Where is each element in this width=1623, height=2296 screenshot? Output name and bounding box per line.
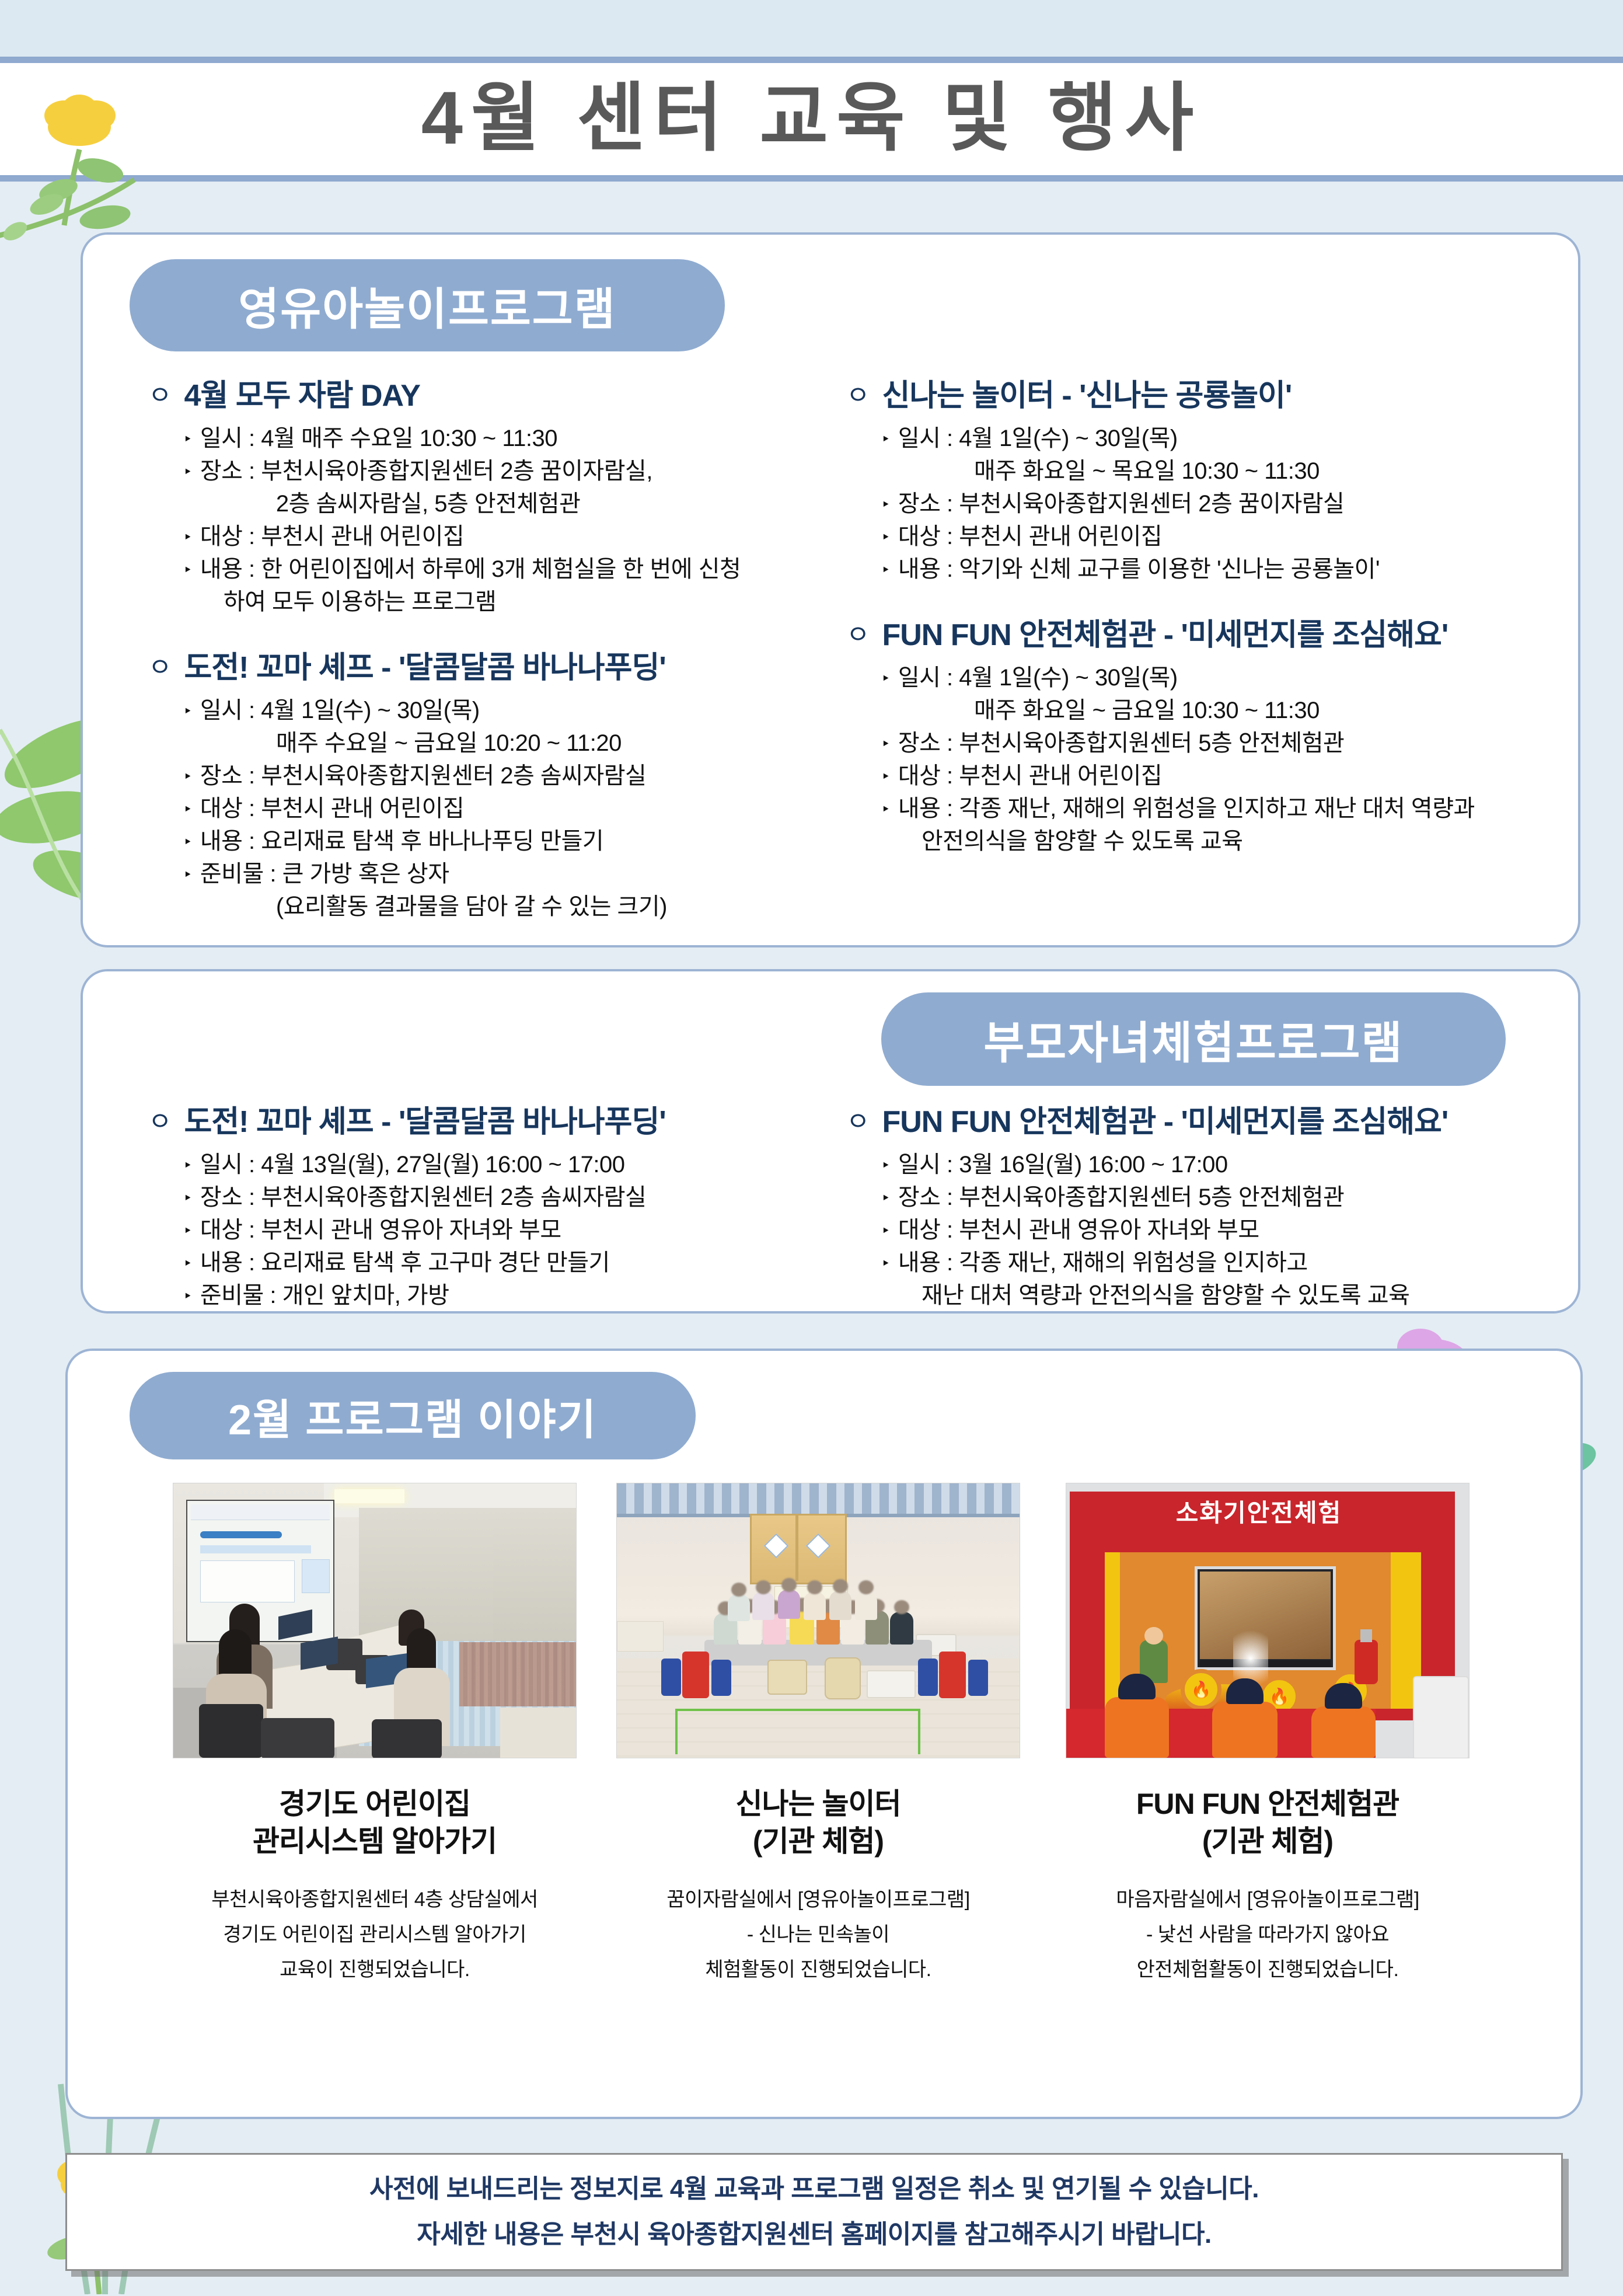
photo-fire-safety: 소화기안전체험 🔥 🔥 🔥	[1066, 1483, 1470, 1758]
photo-caption-title-line1: 신나는 놀이터	[602, 1785, 1034, 1823]
triangle-bullet-icon: ‣	[183, 1280, 192, 1312]
program-detail-line: ‣준비물 : 큰 가방 혹은 상자	[183, 858, 837, 891]
program-detail-text: 대상 : 부천시 관내 어린이집	[200, 793, 464, 824]
triangle-bullet-icon: ‣	[881, 760, 890, 793]
program-title-text: 신나는 놀이터 - '신나는 공룡놀이'	[882, 377, 1292, 414]
triangle-bullet-icon: ‣	[183, 825, 192, 858]
program-detail-text: 대상 : 부천시 관내 어린이집	[898, 521, 1162, 552]
page-title: 4월 센터 교육 및 행사	[0, 63, 1623, 174]
triangle-bullet-icon: ‣	[183, 1214, 192, 1247]
program-detail-line: ‣장소 : 부천시육아종합지원센터 2층 꿈이자람실,	[183, 455, 837, 488]
photo-caption-body-line1: 부천시육아종합지원센터 4층 상담실에서	[159, 1882, 591, 1917]
circle-bullet-icon: ㅇ	[846, 1103, 869, 1141]
program-detail-line: ‣일시 : 4월 1일(수) ~ 30일(목)	[881, 662, 1564, 695]
program-detail-list: ‣일시 : 4월 매주 수요일 10:30 ~ 11:30‣장소 : 부천시육아…	[183, 423, 837, 619]
program-title: ㅇ도전! 꼬마 셰프 - '달콤달콤 바나나푸딩'	[148, 649, 837, 687]
notice-line-1: 사전에 보내드리는 정보지로 4월 교육과 프로그램 일정은 취소 및 연기될 …	[369, 2166, 1259, 2212]
program-detail-text: 2층 솜씨자람실, 5층 안전체험관	[276, 488, 581, 520]
program-spacer	[846, 586, 1564, 611]
program-detail-line: ‣매주 수요일 ~ 금요일 10:20 ~ 11:20	[183, 727, 837, 760]
program-spacer	[846, 1312, 1564, 1337]
photo-caption-title-line2: 관리시스템 알아가기	[159, 1823, 591, 1860]
program-entry: ㅇFUN FUN 안전체험관 - '미세먼지를 조심해요'‣일시 : 4월 1일…	[846, 616, 1564, 883]
triangle-bullet-icon: ‣	[183, 1247, 192, 1280]
photo-caption-body-line3: 교육이 진행되었습니다.	[159, 1952, 591, 1987]
triangle-bullet-icon: ‣	[881, 423, 890, 455]
photo-caption-body-line1: 꿈이자람실에서 [영유아놀이프로그램]	[602, 1882, 1034, 1917]
program-detail-text: 안전의식을 함양할 수 있도록 교육	[922, 825, 1243, 857]
triangle-bullet-icon: ‣	[183, 1182, 192, 1214]
triangle-bullet-icon: ‣	[183, 553, 192, 586]
program-detail-list: ‣일시 : 3월 16일(월) 16:00 ~ 17:00‣장소 : 부천시육아…	[881, 1149, 1564, 1312]
program-detail-list: ‣일시 : 4월 13일(월), 27일(월) 16:00 ~ 17:00‣장소…	[183, 1149, 837, 1312]
triangle-bullet-icon: ‣	[881, 553, 890, 586]
triangle-bullet-icon: ‣	[183, 760, 192, 793]
infant-program-right-column: ㅇ신나는 놀이터 - '신나는 공룡놀이'‣일시 : 4월 1일(수) ~ 30…	[846, 377, 1564, 889]
program-detail-line: ‣내용 : 각종 재난, 재해의 위험성을 인지하고	[881, 1247, 1564, 1280]
program-detail-text: 준비물 : 개인 앞치마, 가방	[200, 1280, 449, 1311]
program-detail-line: ‣대상 : 부천시 관내 영유아 자녀와 부모	[183, 1214, 837, 1247]
divider-under-title	[0, 175, 1623, 182]
badge-parent-child-program: 부모자녀체험프로그램	[881, 992, 1506, 1086]
program-detail-line: ‣안전의식을 함양할 수 있도록 교육	[881, 825, 1564, 858]
story-photo-row: 경기도 어린이집 관리시스템 알아가기 부천시육아종합지원센터 4층 상담실에서…	[65, 1483, 1583, 2102]
triangle-bullet-icon: ‣	[881, 488, 890, 521]
triangle-bullet-icon: ‣	[183, 858, 192, 891]
photo-overlay-sign: 소화기안전체험	[1066, 1497, 1451, 1529]
parent-program-right-column: ㅇFUN FUN 안전체험관 - '미세먼지를 조심해요'‣일시 : 3월 16…	[846, 1103, 1564, 1343]
program-detail-text: 내용 : 요리재료 탐색 후 고구마 경단 만들기	[200, 1247, 610, 1278]
program-detail-line: ‣대상 : 부천시 관내 어린이집	[881, 521, 1564, 553]
photo-caption-title-line2: (기관 체험)	[602, 1823, 1034, 1860]
program-detail-text: 내용 : 각종 재난, 재해의 위험성을 인지하고 재난 대처 역량과	[898, 793, 1475, 824]
program-detail-text: 장소 : 부천시육아종합지원센터 2층 꿈이자람실	[898, 488, 1345, 520]
program-detail-text: 대상 : 부천시 관내 어린이집	[898, 760, 1162, 792]
program-detail-line: ‣일시 : 4월 1일(수) ~ 30일(목)	[881, 423, 1564, 455]
program-detail-line: ‣(요리활동 결과물을 담아 갈 수 있는 크기)	[183, 891, 837, 924]
program-detail-line: ‣장소 : 부천시육아종합지원센터 2층 솜씨자람실	[183, 760, 837, 793]
program-entry: ㅇ4월 모두 자람 DAY‣일시 : 4월 매주 수요일 10:30 ~ 11:…	[148, 377, 837, 643]
photo-caption-body-line2: 경기도 어린이집 관리시스템 알아가기	[159, 1917, 591, 1952]
program-detail-text: 매주 수요일 ~ 금요일 10:20 ~ 11:20	[276, 727, 622, 759]
program-detail-line: ‣대상 : 부천시 관내 영유아 자녀와 부모	[881, 1214, 1564, 1247]
program-entry: ㅇ도전! 꼬마 셰프 - '달콤달콤 바나나푸딩'‣일시 : 4월 1일(수) …	[148, 649, 837, 948]
divider-top	[0, 57, 1623, 63]
program-detail-line: ‣2층 솜씨자람실, 5층 안전체험관	[183, 488, 837, 521]
program-detail-text: 장소 : 부천시육아종합지원센터 2층 솜씨자람실	[200, 1182, 647, 1213]
triangle-bullet-icon: ‣	[881, 662, 890, 695]
program-detail-line: ‣내용 : 각종 재난, 재해의 위험성을 인지하고 재난 대처 역량과	[881, 793, 1564, 825]
program-title: ㅇFUN FUN 안전체험관 - '미세먼지를 조심해요'	[846, 1103, 1564, 1141]
triangle-bullet-icon: ‣	[183, 695, 192, 727]
triangle-bullet-icon: ‣	[183, 455, 192, 488]
program-title-text: 도전! 꼬마 셰프 - '달콤달콤 바나나푸딩'	[184, 1103, 665, 1141]
program-entry: ㅇFUN FUN 안전체험관 - '미세먼지를 조심해요'‣일시 : 3월 16…	[846, 1103, 1564, 1337]
story-photo-cell: 소화기안전체험 🔥 🔥 🔥 FUN FUN 안전체험관 (기관 체험) 마음자람…	[1052, 1483, 1484, 1987]
photo-training-room	[173, 1483, 577, 1758]
program-spacer	[148, 1312, 837, 1337]
program-detail-line: ‣준비물 : 개인 앞치마, 가방	[183, 1280, 837, 1312]
program-detail-line: ‣내용 : 요리재료 탐색 후 고구마 경단 만들기	[183, 1247, 837, 1280]
program-detail-text: 대상 : 부천시 관내 어린이집	[200, 521, 464, 552]
program-title-text: FUN FUN 안전체험관 - '미세먼지를 조심해요'	[882, 1103, 1448, 1141]
parent-program-left-column: ㅇ도전! 꼬마 셰프 - '달콤달콤 바나나푸딩'‣일시 : 4월 13일(월)…	[148, 1103, 837, 1343]
program-detail-line: ‣장소 : 부천시육아종합지원센터 5층 안전체험관	[881, 727, 1564, 760]
badge-infant-program: 영유아놀이프로그램	[130, 259, 725, 351]
story-photo-cell: 경기도 어린이집 관리시스템 알아가기 부천시육아종합지원센터 4층 상담실에서…	[159, 1483, 591, 1987]
triangle-bullet-icon: ‣	[183, 521, 192, 553]
notice-line-2: 자세한 내용은 부천시 육아종합지원센터 홈페이지를 참고해주시기 바랍니다.	[417, 2212, 1211, 2257]
program-detail-text: 내용 : 요리재료 탐색 후 바나나푸딩 만들기	[200, 825, 603, 857]
program-detail-text: 하여 모두 이용하는 프로그램	[224, 586, 496, 618]
photo-caption-body-line2: - 낯선 사람을 따라가지 않아요	[1052, 1917, 1484, 1952]
triangle-bullet-icon: ‣	[881, 1214, 890, 1247]
program-detail-text: 일시 : 4월 매주 수요일 10:30 ~ 11:30	[200, 423, 557, 454]
photo-caption-body-line2: - 신나는 민속놀이	[602, 1917, 1034, 1952]
triangle-bullet-icon: ‣	[881, 521, 890, 553]
photo-caption-title-line2: (기관 체험)	[1052, 1823, 1484, 1860]
circle-bullet-icon: ㅇ	[846, 377, 869, 414]
program-title-text: 4월 모두 자람 DAY	[184, 377, 420, 414]
program-entry: ㅇ신나는 놀이터 - '신나는 공룡놀이'‣일시 : 4월 1일(수) ~ 30…	[846, 377, 1564, 611]
program-detail-line: ‣내용 : 요리재료 탐색 후 바나나푸딩 만들기	[183, 825, 837, 858]
program-detail-text: 일시 : 4월 1일(수) ~ 30일(목)	[200, 695, 480, 726]
program-detail-line: ‣매주 화요일 ~ 목요일 10:30 ~ 11:30	[881, 455, 1564, 488]
program-detail-text: 매주 화요일 ~ 금요일 10:30 ~ 11:30	[974, 695, 1320, 726]
triangle-bullet-icon: ‣	[881, 793, 890, 825]
program-detail-list: ‣일시 : 4월 1일(수) ~ 30일(목)‣매주 화요일 ~ 금요일 10:…	[881, 662, 1564, 858]
program-title: ㅇ신나는 놀이터 - '신나는 공룡놀이'	[846, 377, 1564, 414]
program-detail-line: ‣하여 모두 이용하는 프로그램	[183, 586, 837, 619]
poster-page: 4월 센터 교육 및 행사	[0, 0, 1623, 2296]
program-detail-text: 준비물 : 큰 가방 혹은 상자	[200, 858, 449, 890]
story-photo-cell: 신나는 놀이터 (기관 체험) 꿈이자람실에서 [영유아놀이프로그램] - 신나…	[602, 1483, 1034, 1987]
photo-caption-title-line1: 경기도 어린이집	[159, 1785, 591, 1823]
program-detail-line: ‣내용 : 악기와 신체 교구를 이용한 '신나는 공룡놀이'	[881, 553, 1564, 586]
photo-caption-body-line3: 체험활동이 진행되었습니다.	[602, 1952, 1034, 1987]
photo-caption-title-line1: FUN FUN 안전체험관	[1052, 1785, 1484, 1823]
program-detail-text: (요리활동 결과물을 담아 갈 수 있는 크기)	[276, 891, 667, 922]
program-spacer	[846, 858, 1564, 883]
circle-bullet-icon: ㅇ	[148, 649, 171, 687]
infant-program-left-column: ㅇ4월 모두 자람 DAY‣일시 : 4월 매주 수요일 10:30 ~ 11:…	[148, 377, 837, 954]
program-detail-text: 장소 : 부천시육아종합지원센터 5층 안전체험관	[898, 1182, 1345, 1213]
program-title: ㅇ4월 모두 자람 DAY	[148, 377, 837, 414]
photo-caption-body-line1: 마음자람실에서 [영유아놀이프로그램]	[1052, 1882, 1484, 1917]
program-detail-line: ‣대상 : 부천시 관내 어린이집	[183, 793, 837, 825]
program-detail-line: ‣일시 : 3월 16일(월) 16:00 ~ 17:00	[881, 1149, 1564, 1182]
program-detail-text: 일시 : 3월 16일(월) 16:00 ~ 17:00	[898, 1149, 1228, 1180]
program-detail-line: ‣일시 : 4월 13일(월), 27일(월) 16:00 ~ 17:00	[183, 1149, 837, 1182]
photo-folk-play	[616, 1483, 1020, 1758]
circle-bullet-icon: ㅇ	[846, 616, 869, 654]
program-detail-line: ‣장소 : 부천시육아종합지원센터 2층 솜씨자람실	[183, 1182, 837, 1214]
program-detail-list: ‣일시 : 4월 1일(수) ~ 30일(목)‣매주 화요일 ~ 목요일 10:…	[881, 423, 1564, 586]
triangle-bullet-icon: ‣	[881, 1149, 890, 1182]
program-detail-text: 내용 : 악기와 신체 교구를 이용한 '신나는 공룡놀이'	[898, 553, 1380, 585]
program-detail-text: 장소 : 부천시육아종합지원센터 5층 안전체험관	[898, 727, 1345, 759]
program-entry: ㅇ도전! 꼬마 셰프 - '달콤달콤 바나나푸딩'‣일시 : 4월 13일(월)…	[148, 1103, 837, 1337]
triangle-bullet-icon: ‣	[183, 423, 192, 455]
program-title: ㅇ도전! 꼬마 셰프 - '달콤달콤 바나나푸딩'	[148, 1103, 837, 1141]
triangle-bullet-icon: ‣	[881, 1182, 890, 1214]
program-detail-list: ‣일시 : 4월 1일(수) ~ 30일(목)‣매주 수요일 ~ 금요일 10:…	[183, 695, 837, 924]
circle-bullet-icon: ㅇ	[148, 377, 171, 414]
program-detail-line: ‣장소 : 부천시육아종합지원센터 2층 꿈이자람실	[881, 488, 1564, 521]
photo-caption-body-line3: 안전체험활동이 진행되었습니다.	[1052, 1952, 1484, 1987]
program-detail-text: 일시 : 4월 1일(수) ~ 30일(목)	[898, 662, 1178, 694]
triangle-bullet-icon: ‣	[881, 1247, 890, 1280]
program-detail-text: 장소 : 부천시육아종합지원센터 2층 솜씨자람실	[200, 760, 647, 792]
program-spacer	[148, 924, 837, 948]
program-title-text: 도전! 꼬마 셰프 - '달콤달콤 바나나푸딩'	[184, 649, 665, 687]
program-spacer	[148, 619, 837, 643]
program-title-text: FUN FUN 안전체험관 - '미세먼지를 조심해요'	[882, 616, 1448, 654]
program-detail-text: 일시 : 4월 1일(수) ~ 30일(목)	[898, 423, 1178, 454]
badge-story: 2월 프로그램 이야기	[130, 1372, 696, 1459]
program-detail-line: ‣일시 : 4월 1일(수) ~ 30일(목)	[183, 695, 837, 727]
footer-notice: 사전에 보내드리는 정보지로 4월 교육과 프로그램 일정은 취소 및 연기될 …	[65, 2153, 1563, 2271]
program-detail-text: 대상 : 부천시 관내 영유아 자녀와 부모	[898, 1214, 1259, 1246]
triangle-bullet-icon: ‣	[183, 1149, 192, 1182]
program-detail-text: 대상 : 부천시 관내 영유아 자녀와 부모	[200, 1214, 561, 1246]
program-detail-text: 장소 : 부천시육아종합지원센터 2층 꿈이자람실,	[200, 455, 652, 487]
program-title: ㅇFUN FUN 안전체험관 - '미세먼지를 조심해요'	[846, 616, 1564, 654]
triangle-bullet-icon: ‣	[183, 793, 192, 825]
program-detail-line: ‣매주 화요일 ~ 금요일 10:30 ~ 11:30	[881, 695, 1564, 727]
program-detail-line: ‣대상 : 부천시 관내 어린이집	[183, 521, 837, 553]
program-detail-line: ‣대상 : 부천시 관내 어린이집	[881, 760, 1564, 793]
top-band	[0, 0, 1623, 58]
program-detail-text: 내용 : 각종 재난, 재해의 위험성을 인지하고	[898, 1247, 1308, 1278]
program-detail-line: ‣재난 대처 역량과 안전의식을 함양할 수 있도록 교육	[881, 1280, 1564, 1312]
program-detail-line: ‣장소 : 부천시육아종합지원센터 5층 안전체험관	[881, 1182, 1564, 1214]
program-detail-line: ‣일시 : 4월 매주 수요일 10:30 ~ 11:30	[183, 423, 837, 455]
circle-bullet-icon: ㅇ	[148, 1103, 171, 1141]
triangle-bullet-icon: ‣	[881, 727, 890, 760]
program-detail-text: 재난 대처 역량과 안전의식을 함양할 수 있도록 교육	[922, 1280, 1410, 1311]
program-detail-text: 매주 화요일 ~ 목요일 10:30 ~ 11:30	[974, 455, 1320, 487]
program-detail-text: 일시 : 4월 13일(월), 27일(월) 16:00 ~ 17:00	[200, 1149, 625, 1180]
program-detail-line: ‣내용 : 한 어린이집에서 하루에 3개 체험실을 한 번에 신청	[183, 553, 837, 586]
program-detail-text: 내용 : 한 어린이집에서 하루에 3개 체험실을 한 번에 신청	[200, 553, 741, 585]
